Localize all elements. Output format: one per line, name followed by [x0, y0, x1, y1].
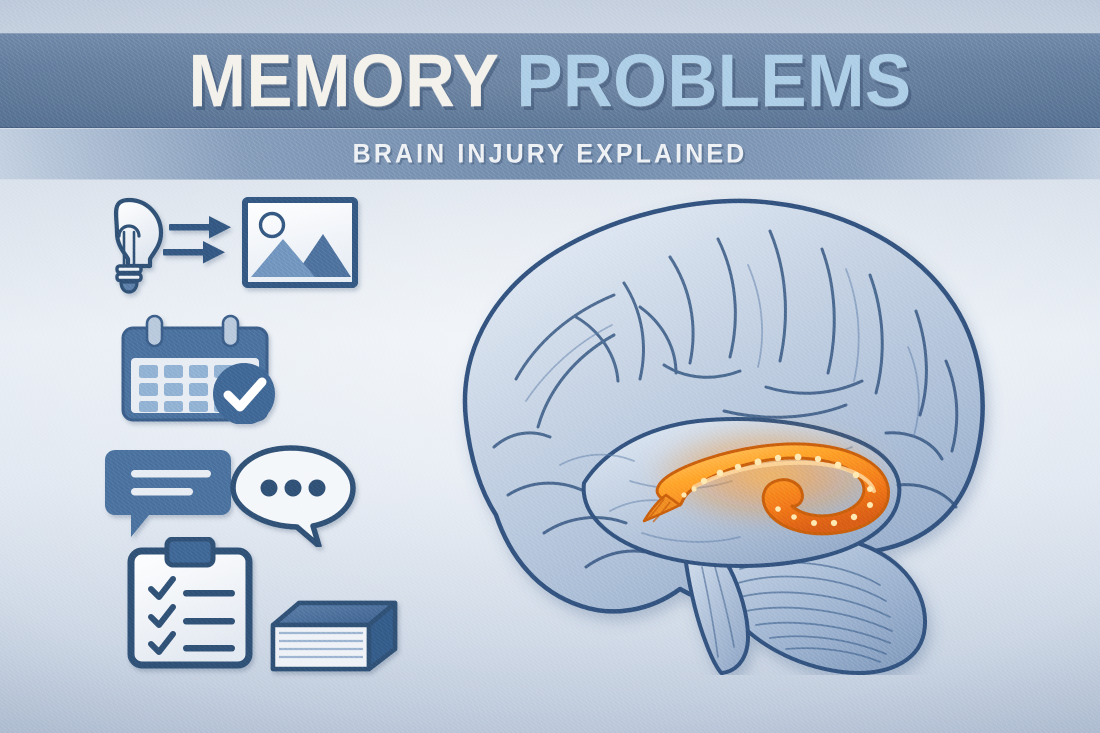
- brain-svg: [418, 165, 1018, 675]
- arrow-right-icon-top: [169, 216, 231, 239]
- clipboard-checklist-icon: [131, 539, 249, 665]
- book-icon: [273, 603, 395, 669]
- brain-illustration: [418, 165, 1018, 675]
- calendar-ring-right: [223, 316, 238, 346]
- check-badge-icon: [213, 363, 275, 424]
- calendar-ring-left: [147, 316, 162, 346]
- lightbulb-icon: [116, 200, 161, 292]
- photo-image-icon: [245, 200, 355, 285]
- arrow-right-icon-bottom: [163, 241, 225, 264]
- page-title: MEMORY PROBLEMS: [0, 29, 1100, 132]
- icon-column: [95, 192, 415, 682]
- icon-group-recall: [95, 192, 365, 302]
- page-subtitle: BRAIN INJURY EXPLAINED: [0, 126, 1100, 181]
- icon-group-dates: [115, 314, 295, 429]
- speech-bubble-filled-icon: [105, 450, 231, 537]
- title-word-memory: MEMORY: [189, 43, 500, 118]
- poster-canvas: MEMORY PROBLEMS BRAIN INJURY EXPLAINED: [0, 0, 1100, 733]
- icon-group-conversation: [101, 442, 366, 552]
- icon-group-tasks: [123, 537, 408, 677]
- title-word-problems: PROBLEMS: [516, 43, 911, 118]
- speech-bubble-dots-icon: [233, 448, 353, 546]
